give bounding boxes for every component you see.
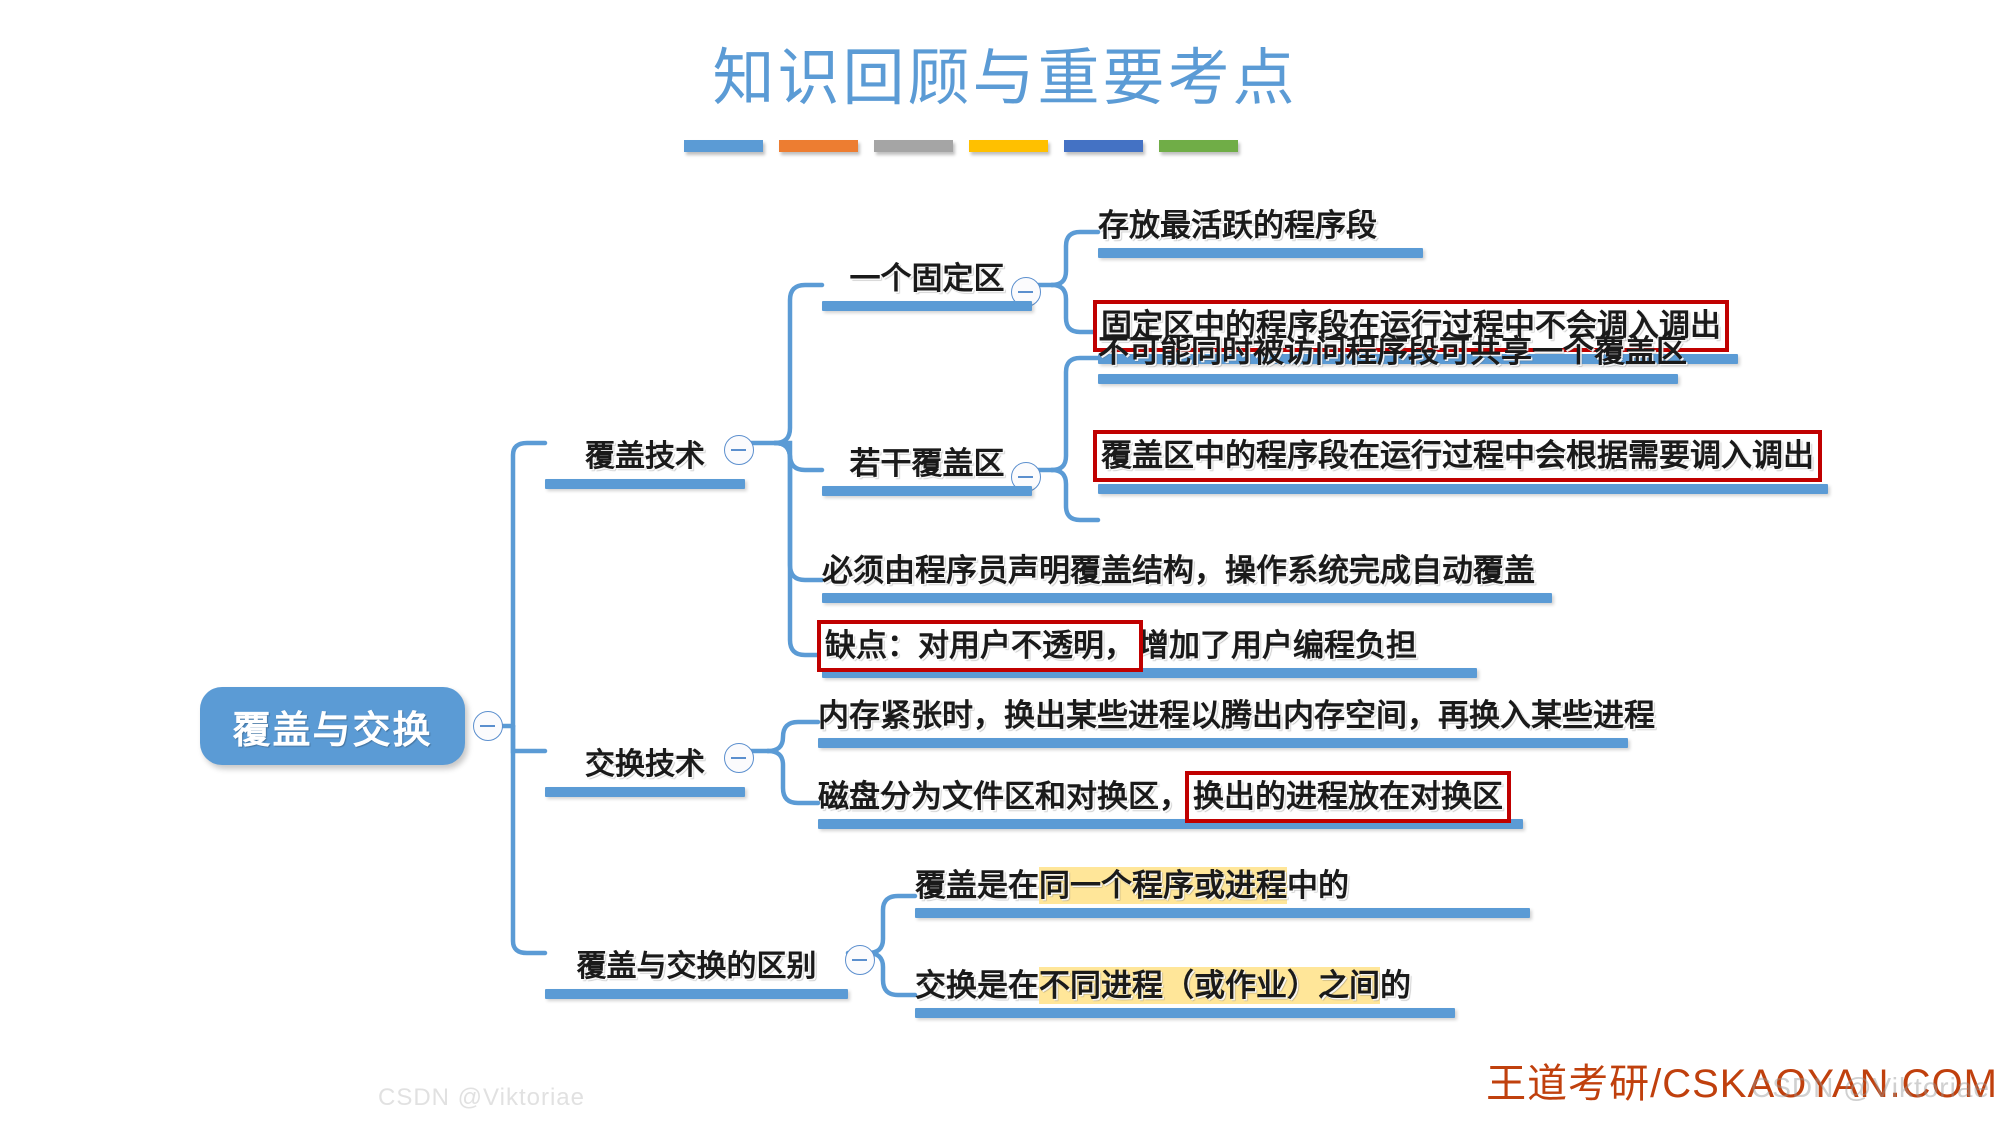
node-text-difference-note-1-tail: 中的: [1287, 868, 1349, 903]
branch-underline-difference: [545, 989, 848, 999]
node-underline-difference-note-2: [915, 1008, 1455, 1018]
node-text-swapping-note-2-head: 磁盘分为文件区和对换区，: [818, 779, 1190, 814]
branch-underline-swapping: [545, 787, 745, 797]
node-text-difference-note-2-head: 交换是在: [915, 968, 1039, 1003]
node-underline-overlay-areas-note-1: [1098, 374, 1678, 384]
branch-node-overlay[interactable]: 覆盖技术: [545, 437, 745, 489]
node-underline-fixed-area: [822, 301, 1032, 311]
node-label-overlay-areas: 若干覆盖区: [822, 444, 1032, 484]
node-swapping-note-1[interactable]: 内存紧张时，换出某些进程以腾出内存空间，再换入某些进程: [818, 696, 1628, 748]
node-fixed-area-note-1[interactable]: 存放最活跃的程序段: [1098, 206, 1423, 258]
watermark-csdn: CSDN @Viktoriae: [1751, 1072, 1990, 1104]
node-text-overlay-areas-note-2: 覆盖区中的程序段在运行过程中会根据需要调入调出: [1098, 436, 1828, 476]
node-overlay-areas-note-2[interactable]: 覆盖区中的程序段在运行过程中会根据需要调入调出: [1098, 436, 1828, 494]
node-text-difference-note-1-head: 覆盖是在: [915, 868, 1039, 903]
node-text-swapping-note-2: 磁盘分为文件区和对换区，换出的进程放在对换区: [818, 777, 1523, 817]
node-text-overlay-note-4-tail: 增加了用户编程负担: [1138, 628, 1417, 663]
yellow-highlight-difference-note-2: 不同进程（或作业）之间: [1039, 967, 1380, 1004]
node-overlay-note-3[interactable]: 必须由程序员声明覆盖结构，操作系统完成自动覆盖: [822, 551, 1552, 603]
node-underline-difference-note-1: [915, 908, 1530, 918]
node-text-swapping-note-1: 内存紧张时，换出某些进程以腾出内存空间，再换入某些进程: [818, 696, 1628, 736]
branch-label-overlay: 覆盖技术: [545, 437, 745, 477]
node-difference-note-1[interactable]: 覆盖是在同一个程序或进程中的: [915, 866, 1530, 918]
accent-bar-4: [969, 140, 1048, 152]
node-swapping-note-2[interactable]: 磁盘分为文件区和对换区，换出的进程放在对换区: [818, 777, 1523, 829]
mindmap-root-node[interactable]: 覆盖与交换: [200, 687, 465, 765]
node-underline-overlay-areas-note-2: [1098, 484, 1828, 494]
root-node-label: 覆盖与交换: [232, 699, 432, 754]
red-highlight-overlay-areas-note-2: 覆盖区中的程序段在运行过程中会根据需要调入调出: [1097, 434, 1818, 478]
branch-underline-overlay: [545, 479, 745, 489]
branch-label-difference: 覆盖与交换的区别: [545, 947, 848, 987]
yellow-highlight-difference-note-1: 同一个程序或进程: [1039, 867, 1287, 904]
accent-bar-1: [684, 140, 763, 152]
node-label-fixed-area: 一个固定区: [822, 259, 1032, 299]
node-underline-overlay-note-3: [822, 593, 1552, 603]
node-underline-swapping-note-2: [818, 819, 1523, 829]
node-overlay-note-4[interactable]: 缺点：对用户不透明，增加了用户编程负担: [822, 626, 1477, 678]
collapse-minus-icon-root[interactable]: [473, 711, 503, 741]
node-underline-overlay-note-4: [822, 668, 1477, 678]
node-text-difference-note-2: 交换是在不同进程（或作业）之间的: [915, 966, 1455, 1006]
node-text-overlay-note-3: 必须由程序员声明覆盖结构，操作系统完成自动覆盖: [822, 551, 1552, 591]
node-overlay-areas-note-1[interactable]: 不可能同时被访问程序段可共享一个覆盖区: [1098, 332, 1678, 384]
accent-bar-6: [1159, 140, 1238, 152]
watermark-csdn-secondary: CSDN @Viktoriae: [378, 1084, 585, 1112]
node-text-fixed-area-note-1: 存放最活跃的程序段: [1098, 206, 1423, 246]
branch-node-swapping[interactable]: 交换技术: [545, 745, 745, 797]
accent-bar-5: [1064, 140, 1143, 152]
node-text-difference-note-2-tail: 的: [1380, 968, 1411, 1003]
collapse-minus-icon-difference[interactable]: [845, 945, 875, 975]
node-underline-fixed-area-note-1: [1098, 248, 1423, 258]
node-text-difference-note-1: 覆盖是在同一个程序或进程中的: [915, 866, 1530, 906]
node-underline-overlay-areas: [822, 486, 1032, 496]
accent-bar-group: [684, 140, 1238, 152]
node-text-overlay-note-4: 缺点：对用户不透明，增加了用户编程负担: [822, 626, 1477, 666]
node-text-overlay-areas-note-1: 不可能同时被访问程序段可共享一个覆盖区: [1098, 332, 1678, 372]
node-overlay-areas[interactable]: 若干覆盖区: [822, 444, 1032, 496]
accent-bar-2: [779, 140, 858, 152]
branch-node-difference[interactable]: 覆盖与交换的区别: [545, 947, 848, 999]
accent-bar-3: [874, 140, 953, 152]
node-underline-swapping-note-1: [818, 738, 1628, 748]
red-highlight-overlay-note-4: 缺点：对用户不透明，: [821, 624, 1139, 668]
node-difference-note-2[interactable]: 交换是在不同进程（或作业）之间的: [915, 966, 1455, 1018]
page-title: 知识回顾与重要考点: [0, 42, 2010, 116]
red-highlight-swapping-note-2: 换出的进程放在对换区: [1189, 775, 1507, 819]
node-fixed-area[interactable]: 一个固定区: [822, 259, 1032, 311]
branch-label-swapping: 交换技术: [545, 745, 745, 785]
